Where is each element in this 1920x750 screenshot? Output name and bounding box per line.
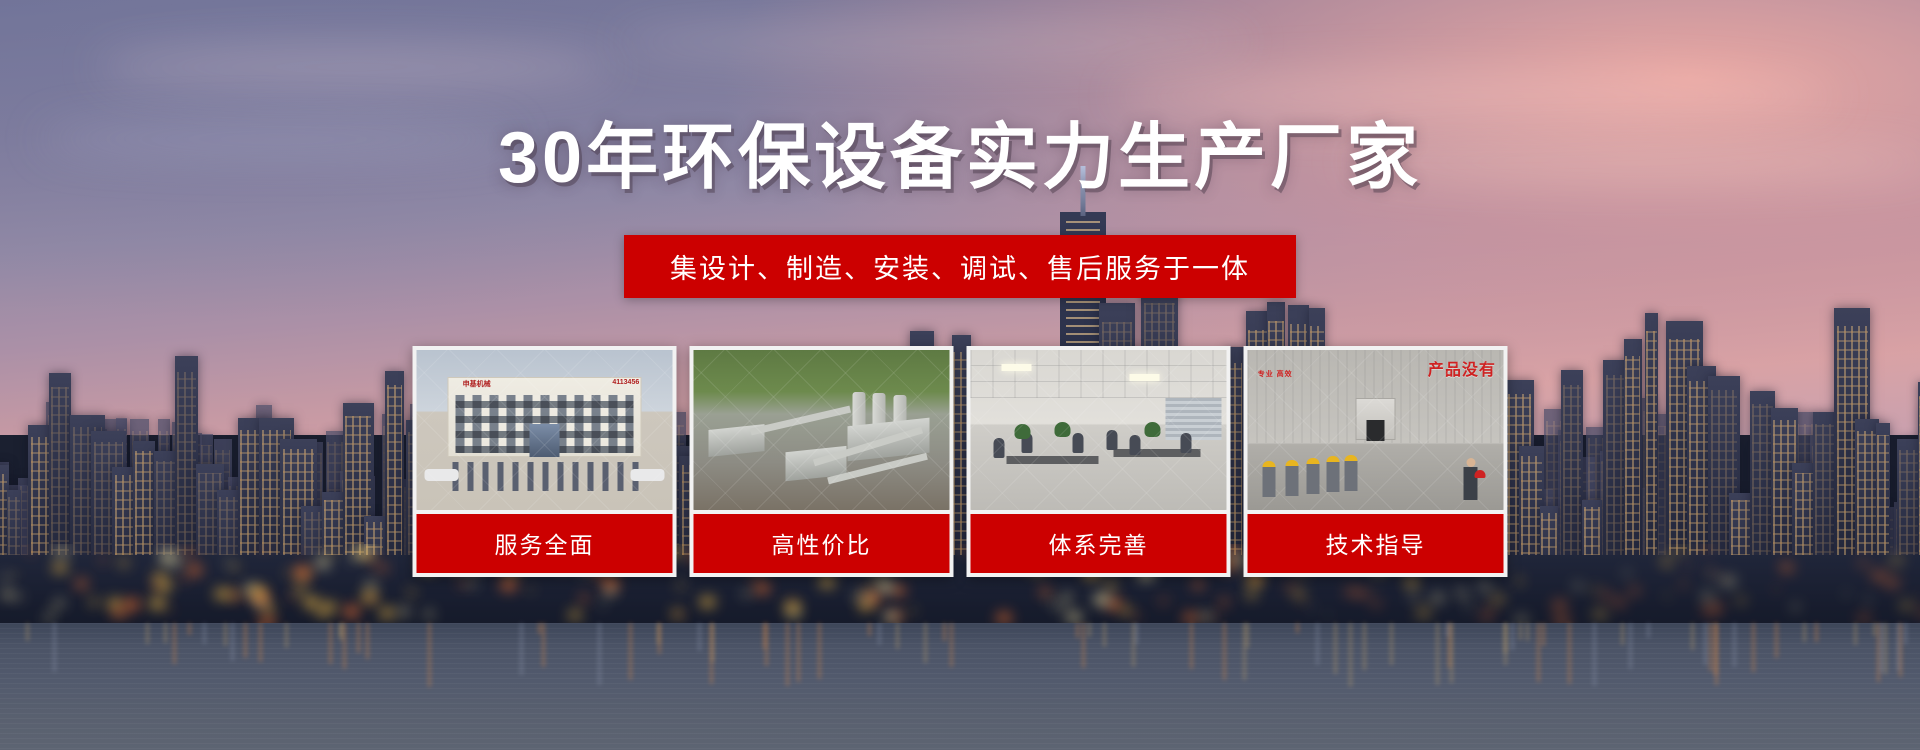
riverside-light — [1623, 571, 1631, 576]
riverside-light — [425, 611, 433, 617]
riverside-light — [170, 559, 181, 567]
riverside-light — [1844, 592, 1849, 596]
parked-car-icon — [631, 469, 665, 481]
water-reflection — [357, 623, 360, 654]
water-reflection — [950, 623, 953, 668]
riverside-light — [1885, 578, 1900, 589]
silo-shape — [873, 393, 886, 426]
person-figure — [1129, 435, 1140, 455]
factory-slogan-text: 专业 高效 — [1258, 369, 1293, 379]
riverside-light — [820, 577, 835, 587]
riverside-light — [90, 599, 98, 604]
riverside-light — [854, 593, 862, 599]
riverside-light — [997, 613, 1011, 623]
water-reflection — [710, 623, 713, 684]
riverside-light — [1133, 614, 1139, 618]
water-reflection — [629, 623, 632, 680]
riverside-light — [459, 581, 466, 586]
desk-shape — [1006, 456, 1098, 464]
riverside-light — [226, 561, 232, 565]
riverside-light — [1040, 588, 1050, 595]
worker-figure — [1263, 461, 1276, 497]
riverside-light — [289, 596, 294, 599]
ceiling-light — [1129, 374, 1159, 381]
water-reflection — [1076, 623, 1079, 639]
riverside-light — [295, 586, 306, 593]
riverside-light — [157, 581, 171, 591]
water-reflection — [698, 623, 701, 651]
riverside-light — [1665, 594, 1670, 597]
staff-row — [452, 462, 641, 491]
river-water — [0, 623, 1920, 750]
riverside-light — [1201, 613, 1210, 619]
card-thumbnail-office — [971, 350, 1227, 510]
subtitle-badge: 集设计、制造、安装、调试、售后服务于一体 — [624, 235, 1296, 298]
water-reflection — [1904, 623, 1907, 645]
person-figure — [1073, 433, 1084, 453]
riverside-light — [1345, 587, 1357, 596]
worker-figure — [1286, 460, 1299, 496]
water-reflection — [1815, 623, 1818, 642]
riverside-light — [1664, 551, 1668, 554]
water-reflection — [164, 623, 167, 643]
riverside-light — [892, 586, 905, 595]
feature-card[interactable]: 高性价比 — [690, 346, 954, 577]
potted-plant — [1145, 422, 1161, 437]
water-reflection — [1519, 623, 1522, 641]
cloud-wisp — [96, 44, 616, 90]
riverside-light — [677, 584, 683, 588]
water-reflection — [520, 623, 523, 676]
card-caption: 服务全面 — [417, 514, 673, 573]
riverside-light — [1573, 583, 1583, 590]
conveyor-belt — [750, 406, 851, 436]
riverside-light — [1409, 593, 1419, 600]
water-reflection — [1854, 623, 1857, 646]
water-reflection — [797, 623, 800, 682]
riverside-light — [1858, 560, 1868, 567]
water-reflection — [765, 623, 768, 667]
water-reflection — [1884, 623, 1887, 674]
company-sign-text: 申基机械 — [463, 379, 491, 389]
silo-shape — [852, 392, 865, 426]
riverside-light — [859, 601, 871, 610]
water-reflection — [818, 623, 821, 680]
riverside-light — [1371, 600, 1381, 607]
water-reflection — [343, 623, 346, 670]
riverside-light — [1865, 598, 1872, 603]
water-reflection — [1704, 623, 1707, 665]
riverside-light — [785, 602, 800, 613]
water-reflection — [1088, 623, 1091, 638]
riverside-light — [286, 571, 292, 575]
water-reflection — [340, 623, 343, 641]
company-phone-text: 4113456 — [612, 379, 639, 386]
water-reflection — [1190, 623, 1193, 670]
riverside-light — [1685, 563, 1691, 567]
water-reflection — [658, 623, 661, 655]
water-reflection — [1542, 623, 1545, 647]
water-reflection — [1135, 623, 1138, 644]
water-reflection — [1223, 623, 1226, 681]
riverside-light — [1515, 577, 1523, 583]
riverside-light — [368, 597, 374, 601]
riverside-light — [700, 597, 715, 607]
building-entrance — [529, 424, 560, 458]
water-reflection — [1103, 623, 1106, 647]
water-reflection — [1446, 623, 1449, 637]
supervisor-figure — [1464, 458, 1478, 500]
riverside-light — [184, 550, 192, 556]
water-reflection — [231, 623, 234, 662]
water-reflection — [1775, 623, 1778, 658]
riverside-light — [1518, 582, 1524, 586]
riverside-light — [1067, 612, 1081, 622]
water-reflection — [428, 623, 431, 687]
riverside-light — [124, 600, 139, 610]
riverside-light — [1212, 615, 1218, 620]
water-reflection — [203, 623, 206, 644]
riverside-light — [1247, 591, 1256, 597]
riverside-light — [399, 608, 409, 615]
riverside-light — [1193, 581, 1203, 588]
riverside-light — [1480, 601, 1485, 604]
riverside-light — [1373, 584, 1378, 587]
riverside-light — [262, 547, 267, 550]
water-reflection — [1082, 623, 1085, 669]
riverside-light — [1160, 599, 1166, 603]
riverside-light — [304, 597, 319, 607]
feature-card[interactable]: 产品没有 专业 高效 技术指导 — [1244, 346, 1508, 577]
feature-card[interactable]: 体系完善 — [967, 346, 1231, 577]
riverside-light — [119, 560, 128, 566]
water-reflection — [1629, 623, 1632, 670]
water-reflection — [1436, 623, 1439, 686]
riverside-light — [469, 581, 476, 586]
person-figure — [1180, 433, 1191, 453]
ceiling-grid — [971, 350, 1227, 398]
water-reflection — [1511, 623, 1514, 650]
riverside-light — [569, 611, 581, 619]
water-reflection — [146, 623, 149, 645]
riverside-light — [1309, 606, 1314, 610]
water-reflection — [598, 623, 601, 686]
riverside-light — [108, 599, 123, 609]
riverside-light — [1491, 594, 1505, 604]
riverside-light — [317, 608, 329, 616]
water-reflection — [329, 623, 332, 664]
factory-door-opening — [1367, 420, 1385, 441]
water-reflection — [943, 623, 946, 642]
riverside-light — [910, 609, 915, 612]
riverside-light — [1774, 587, 1779, 590]
worker-figure — [1327, 456, 1340, 492]
riverside-light — [677, 614, 682, 617]
riverside-light — [1552, 600, 1567, 611]
worker-figure — [1306, 458, 1319, 494]
water-reflection — [259, 623, 262, 662]
riverside-light — [326, 550, 333, 555]
water-reflection — [188, 623, 191, 635]
riverside-light — [29, 549, 34, 552]
water-reflection — [1880, 623, 1883, 673]
riverside-light — [1106, 581, 1116, 588]
water-reflection — [53, 623, 56, 672]
water-reflection — [786, 623, 789, 686]
red-helmet-icon — [1475, 470, 1486, 478]
riverside-light — [370, 559, 377, 564]
riverside-light — [316, 558, 330, 567]
water-reflection — [1537, 623, 1540, 683]
water-reflection — [26, 623, 29, 641]
riverside-light — [180, 577, 186, 581]
water-reflection — [1899, 623, 1902, 677]
card-thumbnail-headquarters: 申基机械 4113456 — [417, 350, 673, 510]
riverside-light — [359, 549, 372, 558]
worker-figure — [1345, 455, 1358, 491]
water-reflection — [244, 623, 247, 658]
feature-card[interactable]: 申基机械 4113456 服务全面 — [413, 346, 677, 577]
riverside-light — [1674, 546, 1685, 553]
person-figure — [994, 438, 1005, 458]
riverside-light — [188, 565, 202, 575]
riverside-light — [1890, 556, 1903, 565]
riverside-light — [344, 606, 360, 617]
feature-card-list: 申基机械 4113456 服务全面 — [413, 346, 1508, 577]
riverside-light — [1406, 580, 1417, 588]
riverside-light — [877, 581, 893, 592]
riverside-light — [1736, 597, 1747, 604]
riverside-light — [1056, 605, 1064, 610]
card-thumbnail-plant — [694, 350, 950, 510]
riverside-light — [1300, 602, 1305, 605]
riverside-light — [1917, 595, 1920, 599]
riverside-light — [1480, 611, 1493, 620]
riverside-light — [1490, 605, 1496, 609]
riverside-light — [1121, 607, 1132, 614]
riverside-light — [580, 595, 588, 601]
riverside-light — [1456, 587, 1465, 593]
cloud-wisp — [1114, 70, 1834, 122]
water-reflection — [1526, 623, 1529, 642]
water-reflection — [1803, 623, 1806, 643]
riverside-light — [528, 588, 533, 591]
water-reflection — [1647, 623, 1650, 638]
riverside-light — [603, 578, 618, 588]
riverside-light — [1478, 582, 1490, 591]
riverside-light — [378, 565, 387, 572]
water-reflection — [1390, 623, 1393, 666]
riverside-light — [14, 573, 18, 576]
riverside-light — [15, 595, 22, 600]
page-title: 30年环保设备实力生产厂家 — [0, 122, 1920, 194]
ceiling-light — [1001, 364, 1031, 371]
riverside-light — [232, 565, 238, 569]
riverside-light — [150, 598, 165, 608]
water-reflection — [366, 623, 369, 660]
riverside-light — [743, 591, 751, 596]
water-reflection — [1621, 623, 1624, 646]
riverside-light — [56, 547, 68, 555]
riverside-light — [1292, 589, 1306, 599]
riverside-light — [1459, 593, 1469, 600]
riverside-light — [1900, 601, 1913, 610]
water-reflection — [1296, 623, 1299, 633]
riverside-light — [1062, 594, 1072, 601]
water-reflection — [924, 623, 927, 663]
riverside-light — [1858, 614, 1870, 623]
riverside-light — [1048, 600, 1054, 604]
riverside-light — [349, 555, 356, 560]
riverside-light — [53, 563, 67, 573]
riverside-light — [76, 580, 87, 587]
water-reflection — [538, 623, 541, 634]
riverside-light — [1701, 592, 1714, 601]
riverside-light — [408, 590, 415, 595]
riverside-light — [263, 605, 274, 612]
riverside-light — [45, 616, 52, 621]
riverside-light — [2, 591, 13, 599]
riverside-light — [1593, 609, 1606, 618]
riverside-light — [1711, 603, 1723, 612]
riverside-light — [1591, 587, 1600, 593]
water-reflection — [868, 623, 871, 637]
riverside-light — [1356, 589, 1369, 598]
water-reflection — [1752, 623, 1755, 673]
riverside-light — [380, 608, 395, 618]
riverside-light — [100, 558, 106, 562]
riverside-light — [1326, 613, 1330, 616]
person-figure — [1106, 430, 1117, 450]
water-reflection — [285, 623, 288, 649]
water-reflection — [1349, 623, 1352, 687]
water-reflection — [1873, 623, 1876, 637]
potted-plant — [1014, 424, 1030, 439]
riverside-light — [1220, 599, 1229, 605]
riverside-light — [1701, 544, 1709, 550]
riverside-light — [50, 607, 56, 611]
water-reflection — [1568, 623, 1571, 685]
riverside-light — [164, 549, 174, 556]
card-caption: 体系完善 — [971, 514, 1227, 573]
riverside-light — [755, 583, 769, 593]
riverside-light — [3, 575, 10, 580]
riverside-light — [1466, 605, 1472, 609]
riverside-light — [152, 582, 158, 586]
window-blinds — [1165, 398, 1221, 440]
water-reflection — [1504, 623, 1507, 653]
riverside-light — [1094, 594, 1109, 605]
riverside-light — [1679, 582, 1686, 587]
riverside-light — [1871, 570, 1886, 581]
water-reflection — [224, 623, 227, 647]
water-reflection — [1316, 623, 1319, 666]
riverside-light — [1416, 607, 1431, 618]
potted-plant — [1055, 422, 1071, 437]
riverside-light — [56, 600, 64, 606]
riverside-light — [1707, 568, 1714, 573]
hero-banner: 30年环保设备实力生产厂家 集设计、制造、安装、调试、售后服务于一体 申基机械 … — [0, 0, 1920, 750]
water-reflection — [1334, 623, 1337, 675]
riverside-light — [168, 608, 172, 611]
riverside-light — [1709, 573, 1717, 579]
riverside-light — [295, 567, 310, 578]
riverside-light — [600, 603, 604, 606]
riverside-light — [366, 582, 376, 589]
card-caption: 技术指导 — [1248, 514, 1504, 573]
water-reflection — [173, 623, 176, 664]
riverside-light — [864, 586, 869, 590]
water-reflection — [1132, 623, 1135, 668]
water-reflection — [1363, 623, 1366, 670]
riverside-light — [1613, 598, 1626, 607]
water-reflection — [1691, 623, 1694, 650]
card-caption: 高性价比 — [694, 514, 950, 573]
water-reflection — [878, 623, 881, 645]
riverside-light — [215, 589, 229, 599]
riverside-light — [1665, 562, 1673, 567]
riverside-light — [1430, 593, 1445, 603]
riverside-light — [1184, 613, 1198, 623]
riverside-light — [299, 548, 303, 551]
cloud-wisp — [614, 22, 1254, 62]
factory-sign-text: 产品没有 — [1428, 356, 1496, 380]
water-reflection — [1714, 623, 1717, 676]
riverside-light — [154, 573, 166, 581]
riverside-light — [1721, 576, 1736, 586]
water-reflection — [896, 623, 899, 650]
water-reflection — [1593, 623, 1596, 686]
riverside-light — [605, 588, 615, 595]
riverside-light — [1601, 591, 1612, 599]
riverside-light — [1791, 604, 1800, 610]
riverside-light — [1629, 587, 1640, 594]
water-reflection — [1709, 623, 1712, 671]
riverside-light — [501, 579, 516, 590]
parked-car-icon — [424, 469, 458, 481]
water-reflection — [1243, 623, 1246, 681]
card-thumbnail-workers: 产品没有 专业 高效 — [1248, 350, 1504, 510]
water-reflection — [1733, 623, 1736, 668]
riverside-light — [113, 609, 124, 617]
riverside-light — [1780, 563, 1794, 573]
water-reflection — [542, 623, 545, 668]
